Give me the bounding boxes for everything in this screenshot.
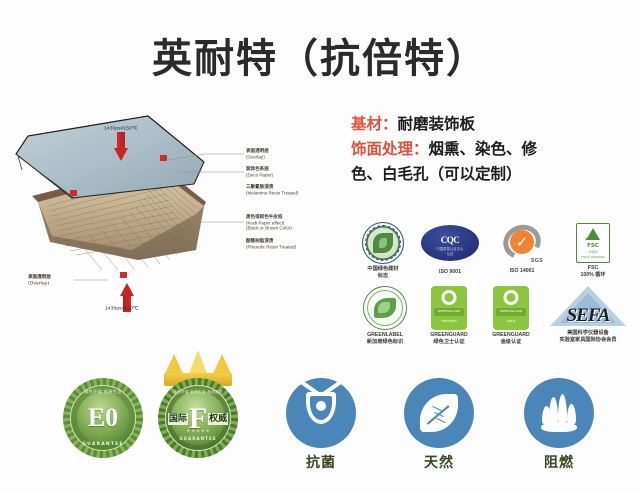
cert-greenguard-gold: GREENGUARD GOLD GREENGUARD 金级认证 xyxy=(480,286,542,346)
fsc-badge-text: FSC xyxy=(577,243,609,249)
cert-cap-1: GREENLABEL xyxy=(367,332,403,338)
leaf-icon xyxy=(404,378,474,448)
china-green-building-material-icon xyxy=(362,222,404,264)
gg-gold-badge-sub2: GOLD xyxy=(493,319,529,323)
cert-cap-2: 实验室家具国际协会会员 xyxy=(542,337,634,344)
cert-row-1: 中国绿色建材 标志 CQC 中国质量认证中心 认证 ISO 9001 xyxy=(352,222,636,280)
feature-label: 阻燃 xyxy=(516,452,602,472)
spec-base-row: 基材：耐磨装饰板 xyxy=(351,112,631,137)
cert-greenlabel: GREENLABEL 新加坡绿色标识 xyxy=(352,286,418,346)
fsc-badge-code: FSC® C000000 xyxy=(577,255,609,259)
callout-overlay: 表面透明层 (Overlay) xyxy=(246,148,269,160)
cert-cap-2: 新加坡绿色标识 xyxy=(352,339,418,346)
cert-sefa: SEFA 美国科学仪器设备 实验室家具国际协会会员 xyxy=(542,286,634,346)
callout-kraft-paper: 黑色或棕色牛皮纸 (Kraft Paper effect) (Black or … xyxy=(246,214,292,232)
greenguard-gold-icon: GREENGUARD GOLD xyxy=(493,286,529,330)
cert-cap-1: GREENGUARD xyxy=(492,332,529,338)
cqc-badge-text: CQC xyxy=(421,235,479,245)
spec-finish-label: 饰面处理： xyxy=(351,140,429,158)
spec-finish-value-2: 色、白毛孔（可以定制） xyxy=(351,165,522,183)
cert-cap-2: 标志 xyxy=(352,273,414,280)
gg-badge-sub: GREENGUARD xyxy=(431,309,467,313)
pressure-arrow-top xyxy=(114,132,128,162)
gg-gold-badge-sub: GREENGUARD xyxy=(493,309,529,313)
page-title: 英耐特（抗倍特） xyxy=(0,26,640,84)
cert-china-green-building-material: 中国绿色建材 标志 xyxy=(352,222,414,280)
seal-f-stars: ★ ★ ★ ★ ★ xyxy=(158,428,238,433)
sefa-icon: SEFA xyxy=(546,286,630,332)
gg-badge-sub2: CERTIFIED xyxy=(431,319,467,323)
spec-block: 基材：耐磨装饰板 饰面处理：烟熏、染色、修 色、白毛孔（可以定制） xyxy=(351,112,631,187)
cert-cap-2: 金级认证 xyxy=(480,339,542,346)
poster-canvas: 英耐特（抗倍特） 基材：耐磨装饰板 饰面处理：烟熏、染色、修 色、白毛孔（可以定… xyxy=(0,0,640,493)
cert-cap-1: ISO 14001 xyxy=(510,268,535,274)
cert-cap-1: GREENGUARD xyxy=(430,332,467,338)
spec-finish-row: 饰面处理：烟熏、染色、修 xyxy=(351,137,631,162)
seal-international-f: 绿色环保 低碳生活 品质保证 国际 F 权威 ★ ★ ★ ★ ★ GUARANT… xyxy=(152,352,244,460)
spec-base-value: 耐磨装饰板 xyxy=(398,115,476,133)
cqc-icon: CQC 中国质量认证中心 认证 xyxy=(421,225,479,261)
laminate-layer-diagram: 1430psi/150℃ 1430psi/150℃ 表面透明层 (Overlay… xyxy=(8,110,348,310)
certification-logos: 中国绿色建材 标志 CQC 中国质量认证中心 认证 ISO 9001 xyxy=(352,222,636,357)
feature-antibacterial: 抗菌 xyxy=(278,378,364,472)
seal-e0-center-text: E0 xyxy=(63,404,143,432)
callout-phenolic: 酚醛树脂浸渍 (Phenolic Resin Treated) xyxy=(246,238,296,250)
feature-flame-retardant: 阻燃 xyxy=(516,378,602,472)
cert-cap-1: ISO 9001 xyxy=(439,269,461,275)
cert-cap-2: 绿色卫士认证 xyxy=(418,339,480,346)
callout-melamine: 三聚氰胺浸渍 (Melamine Resin Treated) xyxy=(246,184,298,196)
seal-f-arc-top: 绿色环保 低碳生活 品质保证 xyxy=(158,390,238,395)
spec-finish-row-2: 色、白毛孔（可以定制） xyxy=(351,162,631,187)
fsc-badge-sub: 100% xyxy=(577,250,609,254)
callout-deco-paper: 装饰色系层 (Deco Paper) xyxy=(246,166,273,178)
pressure-label-bottom: 1430psi/150℃ xyxy=(105,305,139,310)
laminate-stack-illustration xyxy=(8,110,258,300)
callout-overlay-bottom: 表面透明层 (Overlay) xyxy=(28,274,51,286)
greenguard-icon: GREENGUARD CERTIFIED xyxy=(431,286,467,330)
feature-label: 抗菌 xyxy=(278,452,364,472)
feature-badges: 抗菌 天然 阻燃 xyxy=(278,378,634,488)
seal-f-left-text: 国际 xyxy=(168,413,188,425)
shield-swords-icon xyxy=(286,378,356,448)
sefa-badge-text: SEFA xyxy=(546,305,630,327)
flame-icon xyxy=(524,378,594,448)
cert-sgs-iso14001: SGS ISO 14001 xyxy=(486,222,558,280)
cert-cqc-iso9001: CQC 中国质量认证中心 认证 ISO 9001 xyxy=(414,222,486,280)
sgs-icon: SGS xyxy=(501,223,543,263)
spec-base-label: 基材： xyxy=(351,115,398,133)
cqc-badge-sub2: 认证 xyxy=(421,251,479,256)
cert-cap-1: FSC xyxy=(588,265,598,271)
seal-e0: 绿色环保 低碳生活 E0 GUARANTEE xyxy=(63,378,143,458)
seal-f-arc-bottom: GUARANTEE xyxy=(158,436,238,441)
cert-greenguard: GREENGUARD CERTIFIED GREENGUARD 绿色卫士认证 xyxy=(418,286,480,346)
fsc-icon: ✓ FSC 100% FSC® C000000 xyxy=(576,223,610,263)
cert-cap-1: 中国绿色建材 xyxy=(367,266,398,272)
seal-e0-arc-bottom: GUARANTEE xyxy=(63,442,143,447)
pressure-label-top: 1430psi/150℃ xyxy=(104,125,138,130)
cert-cap-2: 100% 循环 xyxy=(558,272,628,279)
feature-label: 天然 xyxy=(396,452,482,472)
seal-e0-arc-top: 绿色环保 低碳生活 xyxy=(63,389,143,395)
spec-finish-value-1: 烟熏、染色、修 xyxy=(429,140,538,158)
sgs-badge-text: SGS xyxy=(531,258,543,264)
seal-f-right-text: 权威 xyxy=(208,413,228,425)
cert-row-2: GREENLABEL 新加坡绿色标识 GREENGUARD CERTIFIED … xyxy=(352,286,636,346)
feature-natural: 天然 xyxy=(396,378,482,472)
greenlabel-icon xyxy=(363,286,407,330)
cert-fsc: ✓ FSC 100% FSC® C000000 FSC 100% 循环 xyxy=(558,222,628,280)
